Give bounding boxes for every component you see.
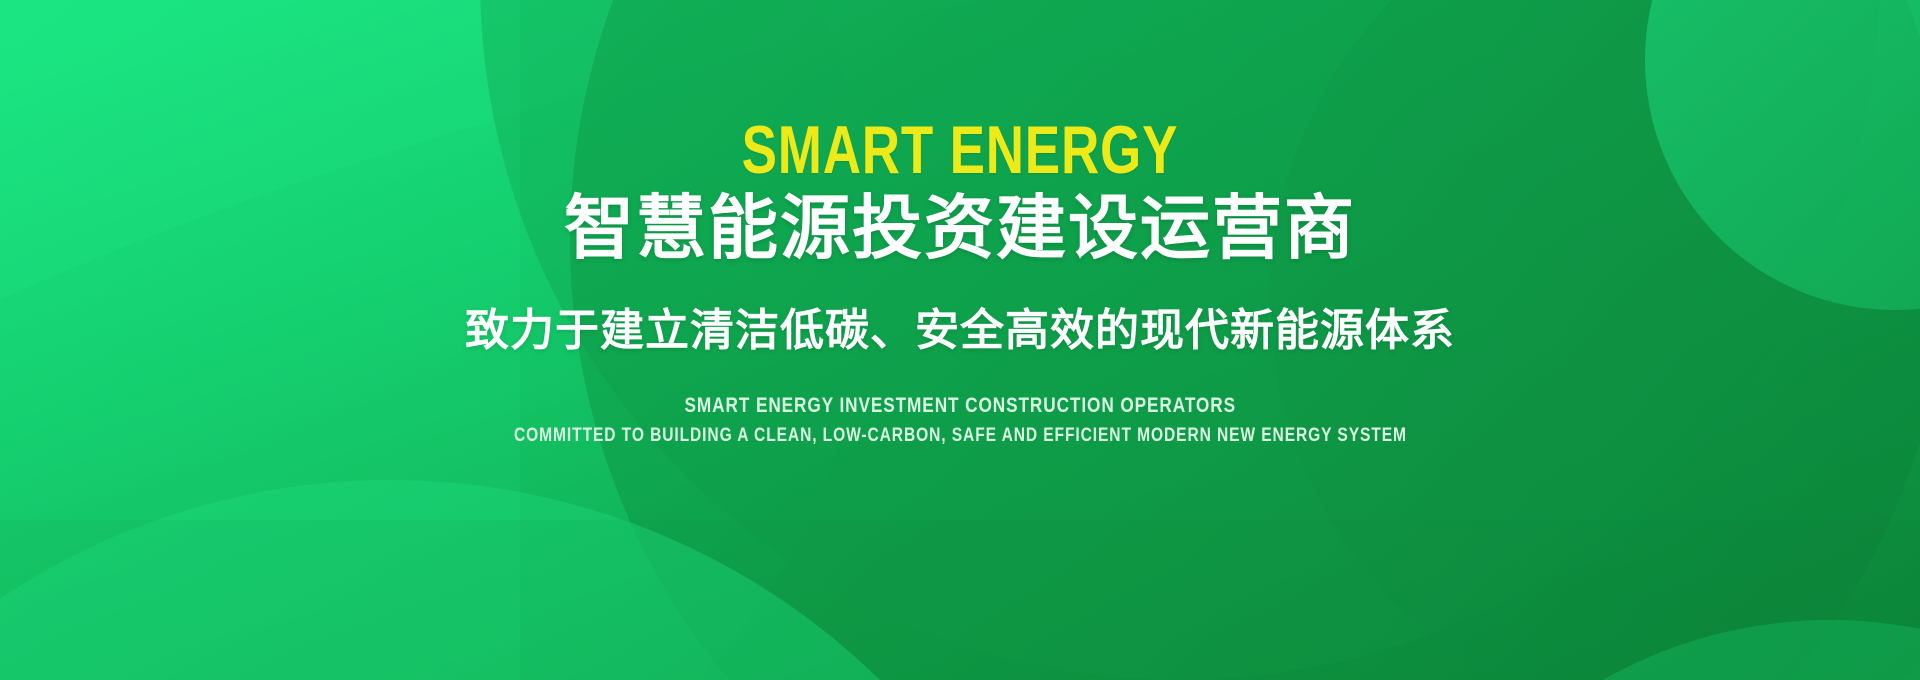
banner-subheadline-chinese: 致力于建立清洁低碳、安全高效的现代新能源体系 xyxy=(465,305,1455,358)
banner-eyebrow-english: SMART ENERGY xyxy=(742,118,1179,183)
banner-tagline-english-primary: SMART ENERGY INVESTMENT CONSTRUCTION OPE… xyxy=(684,392,1235,420)
banner-tagline-english-secondary: COMMITTED TO BUILDING A CLEAN, LOW-CARBO… xyxy=(514,423,1407,449)
banner-content: SMART ENERGY 智慧能源投资建设运营商 致力于建立清洁低碳、安全高效的… xyxy=(0,0,1920,680)
banner-headline-chinese: 智慧能源投资建设运营商 xyxy=(564,191,1356,265)
hero-banner: SMART ENERGY 智慧能源投资建设运营商 致力于建立清洁低碳、安全高效的… xyxy=(0,0,1920,680)
